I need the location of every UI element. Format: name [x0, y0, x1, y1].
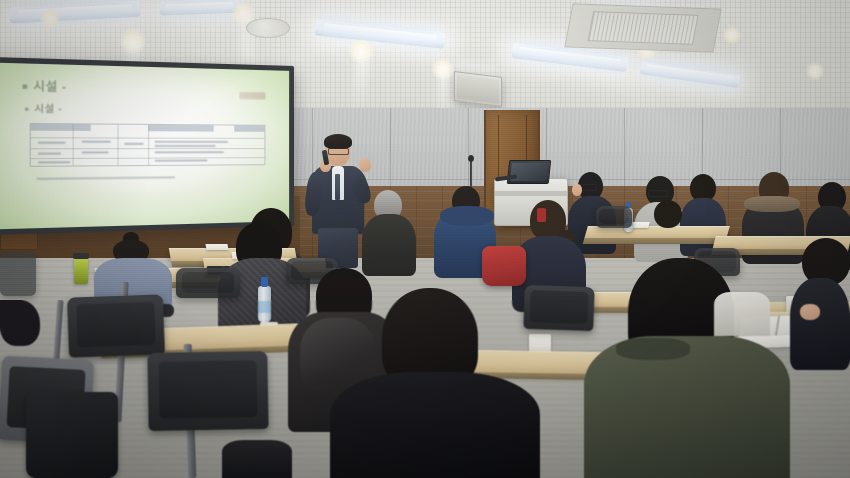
- audience-body: [362, 214, 416, 276]
- audience-glasses: [648, 190, 668, 197]
- audience-hand: [572, 184, 582, 196]
- fur-hood-collar: [744, 196, 800, 212]
- recessed-downlight: [723, 26, 741, 44]
- jacket-collar: [616, 338, 690, 360]
- audience-body: [330, 372, 540, 478]
- lecture-chair[interactable]: [523, 285, 594, 331]
- audience-head: [0, 300, 40, 346]
- audience-body: [790, 278, 850, 370]
- backpack[interactable]: [26, 392, 118, 478]
- slide-logo: [239, 92, 265, 100]
- audience-body: [222, 440, 292, 478]
- lecture-chair[interactable]: [176, 268, 240, 298]
- lecture-chair[interactable]: [67, 294, 165, 357]
- audience-hand: [800, 304, 820, 320]
- air-conditioning-vent: [564, 3, 722, 52]
- presenter-hair: [324, 134, 352, 149]
- slide-subheading: 시설 -: [25, 101, 62, 116]
- presenter-tie: [335, 174, 340, 200]
- projection-screen[interactable]: 시설 - 시설 -: [0, 57, 294, 236]
- projection-screen-surface: 시설 - 시설 -: [0, 62, 289, 229]
- recessed-downlight: [806, 62, 824, 80]
- red-accent: [537, 208, 546, 222]
- presenter-glasses: [328, 148, 349, 155]
- slide-table: [30, 123, 266, 167]
- audience-body: [714, 292, 770, 336]
- lectern-monitor[interactable]: [507, 160, 552, 184]
- slide-heading: 시설 -: [23, 77, 67, 95]
- lecture-chair[interactable]: [147, 351, 268, 431]
- hoodie-hood: [440, 206, 494, 226]
- lecture-hall-photograph: 시설 - 시설 -: [0, 0, 850, 478]
- water-bottle[interactable]: [258, 286, 271, 322]
- ceiling-fixture-disc: [246, 18, 290, 38]
- handout-papers[interactable]: [205, 244, 228, 250]
- audience-body: [584, 336, 790, 478]
- recessed-downlight: [40, 8, 60, 28]
- lecture-chair[interactable]: [596, 206, 632, 228]
- ceiling-speaker: [454, 71, 502, 107]
- lecture-chair[interactable]: [0, 252, 36, 296]
- red-handbag[interactable]: [482, 246, 526, 286]
- audience-head: [654, 200, 682, 228]
- green-tumbler[interactable]: [74, 258, 88, 284]
